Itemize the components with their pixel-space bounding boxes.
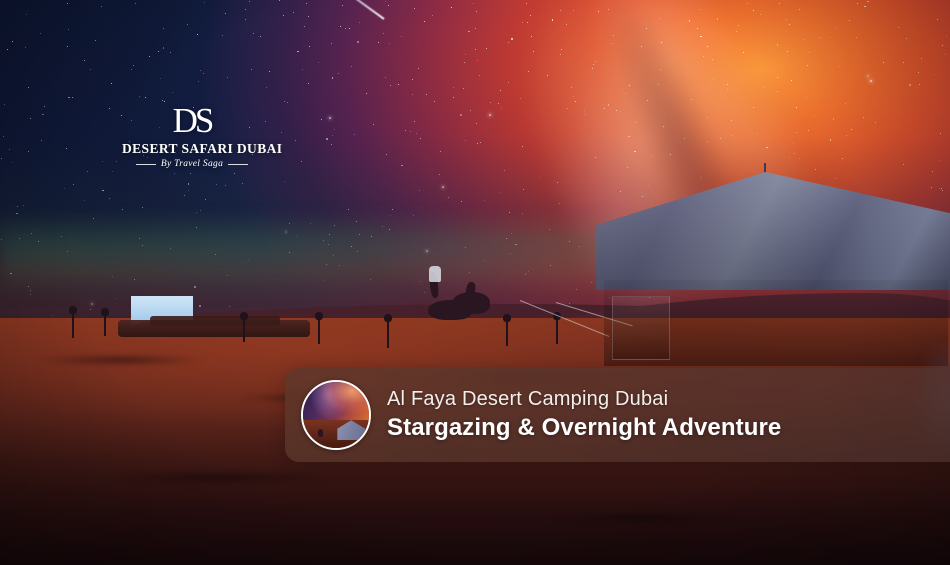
torch-pole [387, 320, 389, 348]
torch-pole [243, 318, 245, 342]
caption-text-group: Al Faya Desert Camping Dubai Stargazing … [387, 387, 781, 443]
brand-watermark: DS DESERT SAFARI DUBAI By Travel Saga [122, 104, 262, 169]
tent-door [612, 296, 670, 360]
torch-pole [72, 312, 74, 338]
tent-roof-shading [596, 172, 950, 290]
caption-subtitle: Stargazing & Overnight Adventure [387, 413, 781, 443]
tagline-rule-left [136, 164, 156, 165]
torch-pole [506, 320, 508, 346]
tagline-rule-right [228, 164, 248, 165]
camel-handler [429, 266, 441, 282]
promo-image: DS DESERT SAFARI DUBAI By Travel Saga Al… [0, 0, 950, 565]
main-tent [596, 172, 950, 352]
torch-pole [318, 318, 320, 344]
seating-cushions [150, 316, 280, 326]
brand-tagline: By Travel Saga [161, 159, 223, 169]
camp-scene [0, 0, 950, 565]
desert-camp-thumbnail[interactable] [301, 380, 371, 450]
brand-monogram-icon: DS [122, 104, 262, 138]
caption-bar[interactable]: Al Faya Desert Camping Dubai Stargazing … [285, 368, 950, 462]
brand-tagline-row: By Travel Saga [122, 159, 262, 169]
torch-pole [104, 314, 106, 336]
caption-title: Al Faya Desert Camping Dubai [387, 387, 781, 411]
brand-name: DESERT SAFARI DUBAI [122, 141, 262, 157]
thumbnail-sky [303, 382, 369, 423]
torch-pole [556, 318, 558, 344]
